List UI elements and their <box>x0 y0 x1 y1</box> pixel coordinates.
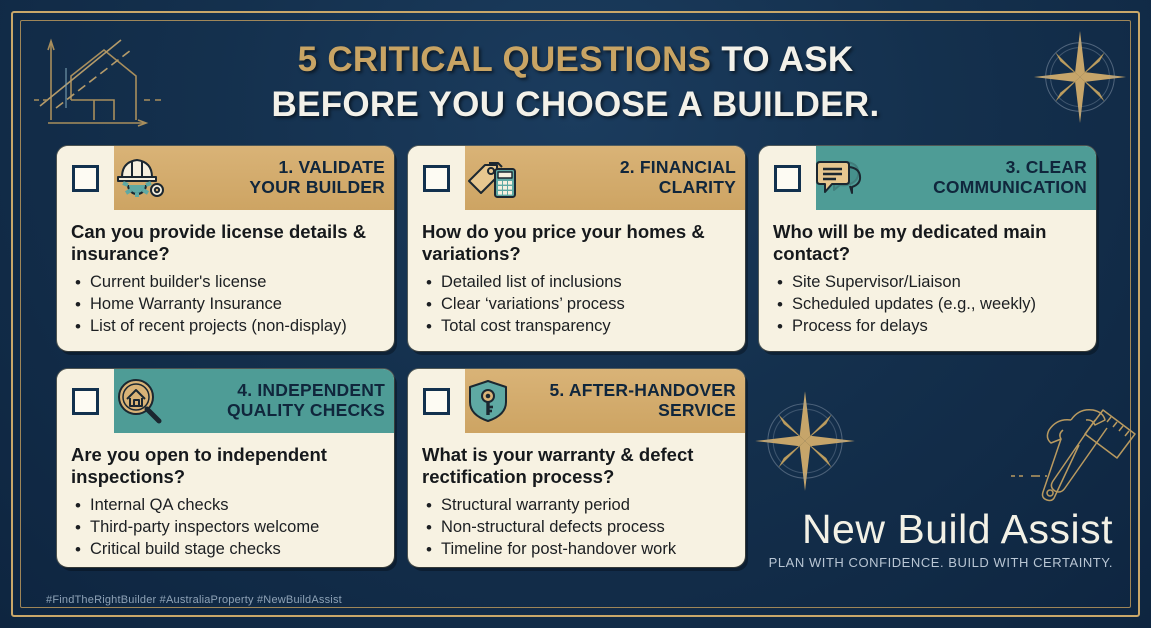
card-title-line1: 1. VALIDATE <box>278 157 385 177</box>
card-body: What is your warranty & defect rectifica… <box>408 433 745 567</box>
list-item: Site Supervisor/Liaison <box>773 272 1083 294</box>
checkbox-cell[interactable] <box>408 146 465 210</box>
question-card-3[interactable]: 3. CLEAR COMMUNICATION Who will be my de… <box>759 146 1096 351</box>
card-title-4: 4. INDEPENDENT QUALITY CHECKS <box>174 381 385 421</box>
list-item: Critical build stage checks <box>71 539 381 561</box>
list-item: Process for delays <box>773 316 1083 338</box>
card-header: 5. AFTER-HANDOVER SERVICE <box>408 369 745 433</box>
card-question-3: Who will be my dedicated main contact? <box>773 221 1083 265</box>
card-body: How do you price your homes & variations… <box>408 210 745 351</box>
card-title-line1: 3. CLEAR <box>1006 157 1087 177</box>
header-band: 1. VALIDATE YOUR BUILDER <box>114 146 394 210</box>
brand-name: New Build Assist <box>769 508 1113 551</box>
card-question-5: What is your warranty & defect rectifica… <box>422 444 732 488</box>
card-header: 1. VALIDATE YOUR BUILDER <box>57 146 394 210</box>
card-question-1: Can you provide license details & insura… <box>71 221 381 265</box>
list-item: Current builder's license <box>71 272 381 294</box>
question-card-2[interactable]: 2. FINANCIAL CLARITY How do you price yo… <box>408 146 745 351</box>
brand-tagline: PLAN WITH CONFIDENCE. BUILD WITH CERTAIN… <box>769 555 1113 570</box>
list-item: List of recent projects (non-display) <box>71 316 381 338</box>
card-title-line2: QUALITY CHECKS <box>227 400 385 420</box>
card-title-line1: 5. AFTER-HANDOVER <box>549 380 736 400</box>
header-band: 2. FINANCIAL CLARITY <box>465 146 745 210</box>
price-tag-calculator-icon <box>465 155 519 201</box>
list-item: Timeline for post-handover work <box>422 539 732 561</box>
card-question-2: How do you price your homes & variations… <box>422 221 732 265</box>
card-bullets-1: Current builder's license Home Warranty … <box>71 272 381 337</box>
list-item: Third-party inspectors welcome <box>71 517 381 539</box>
card-body: Are you open to independent inspections?… <box>57 433 394 567</box>
list-item: Total cost transparency <box>422 316 732 338</box>
shield-key-icon <box>465 378 511 424</box>
card-bullets-5: Structural warranty period Non-structura… <box>422 495 732 560</box>
header-band: 4. INDEPENDENT QUALITY CHECKS <box>114 369 394 433</box>
card-header: 3. CLEAR COMMUNICATION <box>759 146 1096 210</box>
card-title-line1: 4. INDEPENDENT <box>237 380 385 400</box>
checkbox-5[interactable] <box>423 388 450 415</box>
question-card-1[interactable]: 1. VALIDATE YOUR BUILDER Can you provide… <box>57 146 394 351</box>
list-item: Clear ‘variations’ process <box>422 294 732 316</box>
checkbox-3[interactable] <box>774 165 801 192</box>
poster-title: 5 CRITICAL QUESTIONS TO ASK BEFORE YOU C… <box>0 38 1151 128</box>
card-title-1: 1. VALIDATE YOUR BUILDER <box>174 158 385 198</box>
card-title-2: 2. FINANCIAL CLARITY <box>527 158 736 198</box>
checkbox-1[interactable] <box>72 165 99 192</box>
hard-hat-gear-icon <box>114 155 166 201</box>
card-title-line1: 2. FINANCIAL <box>620 157 736 177</box>
infographic-poster: 5 CRITICAL QUESTIONS TO ASK BEFORE YOU C… <box>0 0 1151 628</box>
card-bullets-3: Site Supervisor/Liaison Scheduled update… <box>773 272 1083 337</box>
card-question-4: Are you open to independent inspections? <box>71 444 381 488</box>
card-bullets-4: Internal QA checks Third-party inspector… <box>71 495 381 560</box>
checkbox-cell[interactable] <box>57 369 114 433</box>
header-band: 5. AFTER-HANDOVER SERVICE <box>465 369 745 433</box>
card-title-5: 5. AFTER-HANDOVER SERVICE <box>519 381 736 421</box>
speech-bubbles-icon <box>816 156 866 200</box>
checkbox-2[interactable] <box>423 165 450 192</box>
card-row-1: 1. VALIDATE YOUR BUILDER Can you provide… <box>57 146 1097 351</box>
card-title-line2: COMMUNICATION <box>933 177 1087 197</box>
house-magnifier-icon <box>114 378 166 424</box>
card-body: Can you provide license details & insura… <box>57 210 394 351</box>
header-band: 3. CLEAR COMMUNICATION <box>816 146 1096 210</box>
card-body: Who will be my dedicated main contact? S… <box>759 210 1096 351</box>
checkbox-cell[interactable] <box>759 146 816 210</box>
question-card-grid: 1. VALIDATE YOUR BUILDER Can you provide… <box>57 146 1097 567</box>
checkbox-4[interactable] <box>72 388 99 415</box>
title-highlight: 5 CRITICAL QUESTIONS <box>298 40 712 79</box>
list-item: Internal QA checks <box>71 495 381 517</box>
card-bullets-2: Detailed list of inclusions Clear ‘varia… <box>422 272 732 337</box>
card-title-line2: CLARITY <box>659 177 736 197</box>
checkbox-cell[interactable] <box>57 146 114 210</box>
title-line1-rest: TO ASK <box>711 40 853 79</box>
question-card-5[interactable]: 5. AFTER-HANDOVER SERVICE What is your w… <box>408 369 745 567</box>
list-item: Home Warranty Insurance <box>71 294 381 316</box>
list-item: Detailed list of inclusions <box>422 272 732 294</box>
card-header: 2. FINANCIAL CLARITY <box>408 146 745 210</box>
list-item: Scheduled updates (e.g., weekly) <box>773 294 1083 316</box>
list-item: Structural warranty period <box>422 495 732 517</box>
hashtags: #FindTheRightBuilder #AustraliaProperty … <box>46 594 342 606</box>
question-card-4[interactable]: 4. INDEPENDENT QUALITY CHECKS Are you op… <box>57 369 394 567</box>
list-item: Non-structural defects process <box>422 517 732 539</box>
checkbox-cell[interactable] <box>408 369 465 433</box>
card-header: 4. INDEPENDENT QUALITY CHECKS <box>57 369 394 433</box>
brand-block: New Build Assist PLAN WITH CONFIDENCE. B… <box>769 508 1113 570</box>
card-title-3: 3. CLEAR COMMUNICATION <box>874 158 1087 198</box>
title-line2: BEFORE YOU CHOOSE A BUILDER. <box>0 83 1151 128</box>
card-title-line2: SERVICE <box>658 400 736 420</box>
card-title-line2: YOUR BUILDER <box>249 177 385 197</box>
